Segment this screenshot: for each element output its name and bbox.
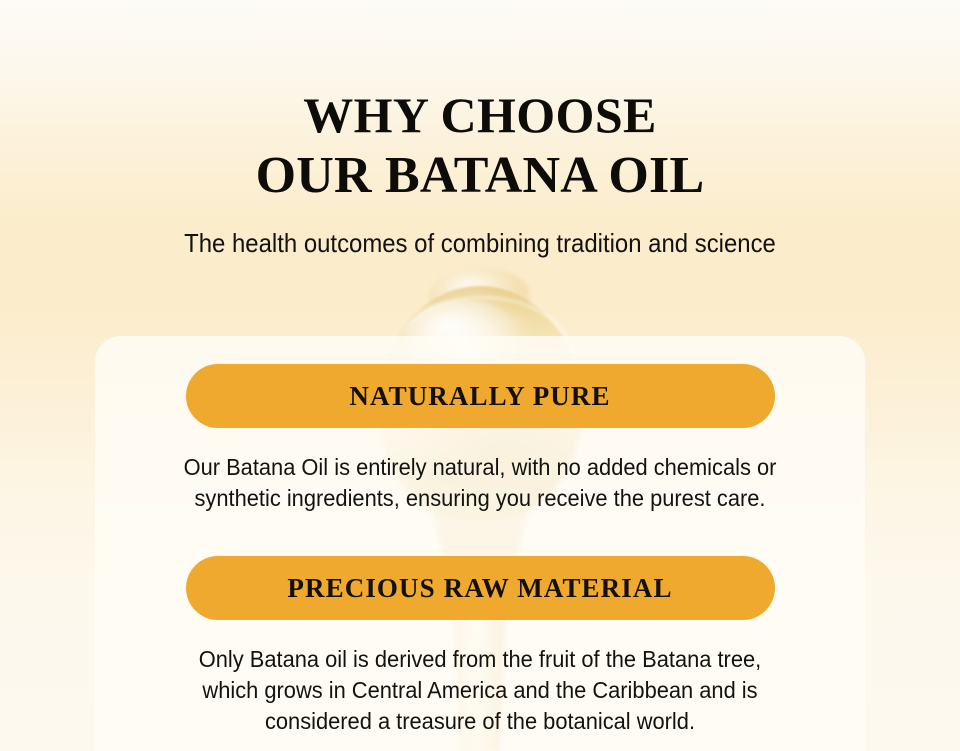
page-title: WHY CHOOSE OUR BATANA OIL [0,0,960,206]
benefit-description-2-line-3: considered a treasure of the botanical w… [127,706,834,737]
benefit-description-1: Our Batana Oil is entirely natural, with… [127,428,834,514]
page-title-line-1: WHY CHOOSE [0,86,960,145]
benefit-title-pill-2[interactable]: PRECIOUS RAW MATERIAL [186,556,775,620]
header-block: WHY CHOOSE OUR BATANA OIL The health out… [0,0,960,260]
page-subtitle: The health outcomes of combining traditi… [38,206,921,259]
oil-drip-shape [430,268,530,322]
page-title-line-2: OUR BATANA OIL [0,145,960,206]
benefit-item-precious-raw-material: PRECIOUS RAW MATERIAL Only Batana oil is… [0,556,960,737]
benefit-description-1-line-2: synthetic ingredients, ensuring you rece… [127,483,834,514]
benefit-description-2: Only Batana oil is derived from the frui… [127,620,834,737]
benefit-description-2-line-1: Only Batana oil is derived from the frui… [127,644,834,675]
benefit-description-1-line-1: Our Batana Oil is entirely natural, with… [127,452,834,483]
poster-canvas: WHY CHOOSE OUR BATANA OIL The health out… [0,0,960,751]
benefit-description-2-line-2: which grows in Central America and the C… [127,675,834,706]
benefit-title-pill-1[interactable]: NATURALLY PURE [186,364,775,428]
benefit-item-naturally-pure: NATURALLY PURE Our Batana Oil is entirel… [0,364,960,514]
